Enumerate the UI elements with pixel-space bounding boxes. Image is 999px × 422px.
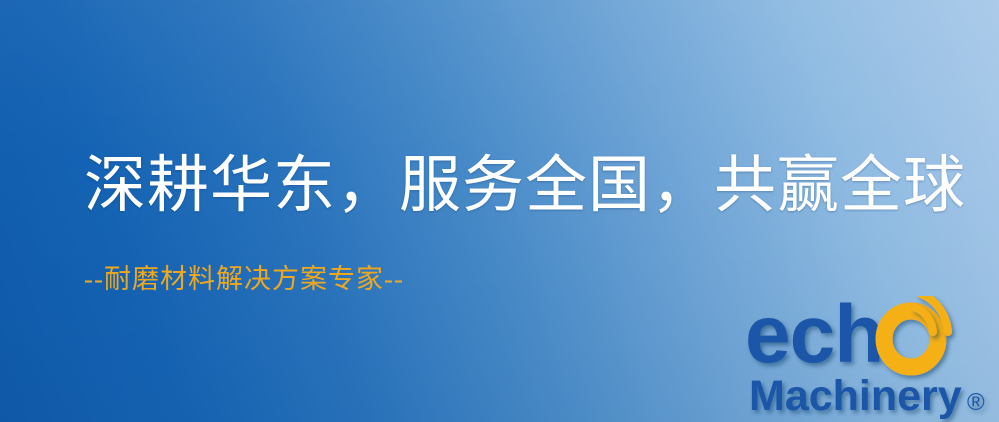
svg-text:Machinery: Machinery (749, 372, 962, 420)
banner-subtitle: --耐磨材料解决方案专家-- (84, 266, 404, 293)
logo-tagline: Machinery ® (749, 372, 985, 420)
svg-text:®: ® (967, 389, 985, 416)
promo-banner: 深耕华东，服务全国，共赢全球 --耐磨材料解决方案专家-- ech (0, 0, 999, 422)
logo-wordmark-ech: ech (745, 296, 883, 380)
echo-machinery-logo: ech Machinery ® (745, 296, 999, 422)
banner-headline: 深耕华东，服务全国，共赢全球 (84, 155, 966, 217)
svg-text:ech: ech (745, 296, 883, 380)
